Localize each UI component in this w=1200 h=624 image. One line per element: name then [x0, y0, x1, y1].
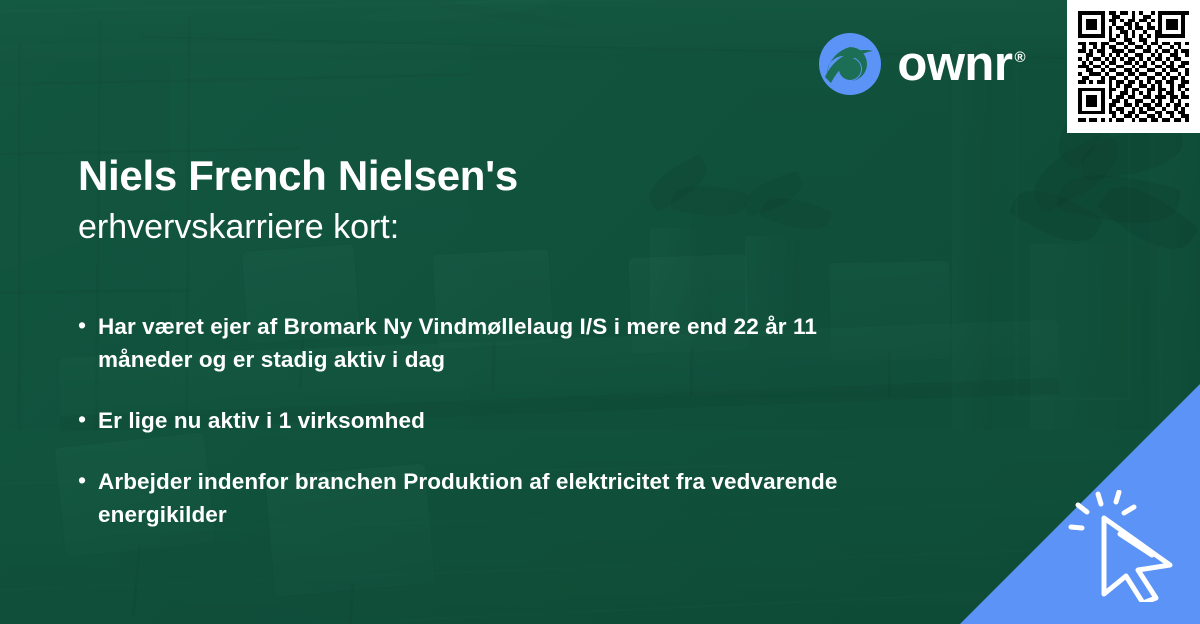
ownr-circle-swoosh-logo: [819, 33, 881, 95]
list-item: •Er lige nu aktiv i 1 virksomhed: [78, 404, 888, 437]
list-item-text: Arbejder indenfor branchen Produktion af…: [98, 465, 888, 531]
qr-code[interactable]: [1067, 0, 1200, 133]
page-title: Niels French Nielsen's: [78, 152, 980, 199]
ownr-logo[interactable]: ownr®: [819, 33, 1025, 95]
list-item: •Har været ejer af Bromark Ny Vindmøllel…: [78, 310, 888, 376]
business-career-card: ownr® Niels French Nielsen's erhvervskar…: [0, 0, 1200, 624]
heading-block: Niels French Nielsen's erhvervskarriere …: [78, 152, 980, 248]
page-subtitle: erhvervskarriere kort:: [78, 207, 980, 248]
ownr-wordmark: ownr®: [897, 40, 1025, 89]
bullet-dot-icon: •: [78, 404, 98, 434]
list-item-text: Har været ejer af Bromark Ny Vindmøllela…: [98, 310, 888, 376]
list-item: •Arbejder indenfor branchen Produktion a…: [78, 465, 888, 531]
career-facts-list: •Har været ejer af Bromark Ny Vindmøllel…: [78, 310, 888, 559]
ownr-wordmark-text: ownr: [897, 37, 1012, 91]
bullet-dot-icon: •: [78, 465, 98, 495]
registered-trademark-symbol: ®: [1014, 49, 1025, 66]
click-cursor-icon: [1064, 490, 1182, 602]
qr-code-modules: [1078, 11, 1189, 122]
list-item-text: Er lige nu aktiv i 1 virksomhed: [98, 404, 425, 437]
bullet-dot-icon: •: [78, 310, 98, 340]
